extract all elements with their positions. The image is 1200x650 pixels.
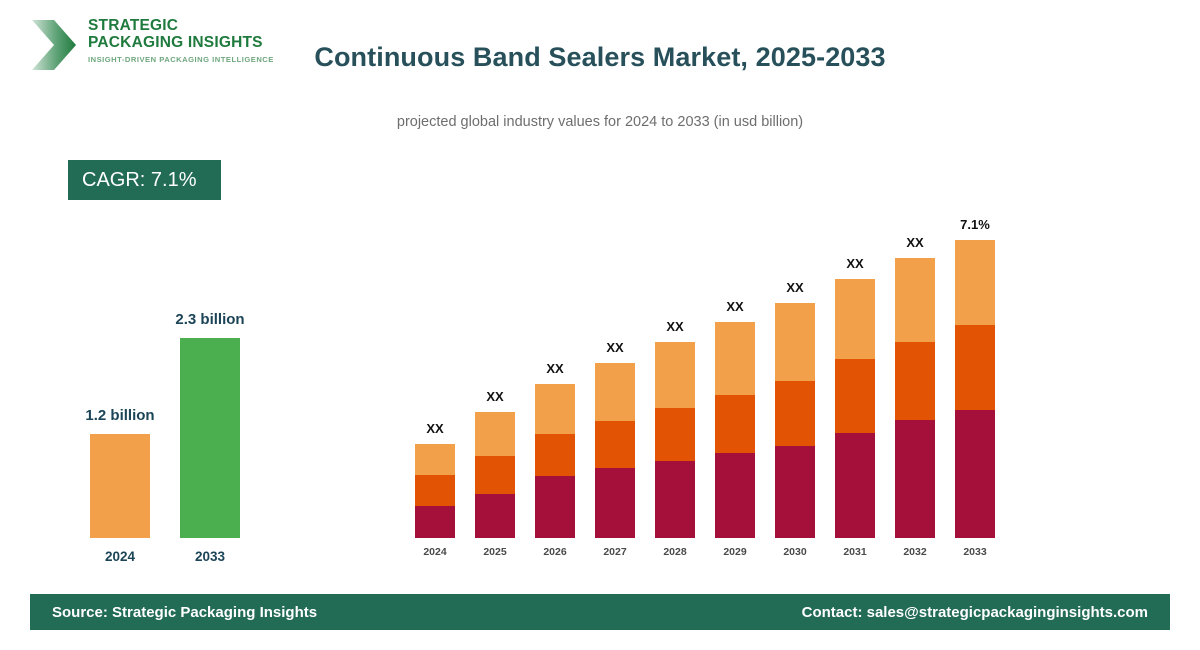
bar-segment-segment-middle xyxy=(475,456,515,494)
bar-segment-segment-top xyxy=(775,303,815,381)
bar-value-label: XX xyxy=(575,340,655,355)
bar-value-label: XX xyxy=(455,389,535,404)
bar-segment-segment-middle xyxy=(835,359,875,433)
bar-segment-segment-middle xyxy=(715,395,755,453)
footer-bar: Source: Strategic Packaging Insights Con… xyxy=(30,594,1170,630)
page-subtitle: projected global industry values for 202… xyxy=(0,114,1200,130)
infographic-page: STRATEGIC PACKAGING INSIGHTS INSIGHT-DRI… xyxy=(0,0,1200,650)
bar-segment-segment-middle xyxy=(775,381,815,446)
stacked-bar-2027 xyxy=(595,363,635,538)
bar-segment-segment-top xyxy=(535,384,575,434)
bar-segment-segment-middle xyxy=(535,434,575,476)
bar-segment-segment-bottom xyxy=(775,446,815,538)
bar-segment-segment-middle xyxy=(595,421,635,468)
stacked-bar-2024 xyxy=(415,444,455,538)
bar-segment-segment-top xyxy=(955,240,995,325)
bar-segment-segment-bottom xyxy=(535,476,575,538)
stacked-bar-2033 xyxy=(955,240,995,538)
bar-value-label: XX xyxy=(815,256,895,271)
footer-contact: Contact: sales@strategicpackaginginsight… xyxy=(802,604,1148,621)
bar-segment-segment-top xyxy=(895,258,935,342)
stacked-bar-2028 xyxy=(655,342,695,538)
bar-segment-segment-bottom xyxy=(835,433,875,538)
bar-segment-segment-bottom xyxy=(595,468,635,538)
bar-value-label: 7.1% xyxy=(935,217,1015,232)
bar-segment-segment-bottom xyxy=(655,461,695,538)
stacked-bar-2029 xyxy=(715,322,755,538)
footer-source: Source: Strategic Packaging Insights xyxy=(52,604,317,621)
bar-segment-segment-bottom xyxy=(955,410,995,538)
bar-value-label: XX xyxy=(755,280,835,295)
bar-segment-segment-bottom xyxy=(415,506,455,538)
bar-segment-segment-top xyxy=(715,322,755,395)
bar-value-label: XX xyxy=(395,421,475,436)
bar-value-label: XX xyxy=(695,299,775,314)
comparison-bar-fill xyxy=(90,434,150,538)
bar-segment-segment-middle xyxy=(955,325,995,410)
bar-value-label: XX xyxy=(635,319,715,334)
bar-value-label: XX xyxy=(875,235,955,250)
x-axis-tick-2033: 2033 xyxy=(935,546,1015,558)
bar-segment-segment-top xyxy=(835,279,875,359)
bar-segment-segment-bottom xyxy=(475,494,515,538)
stacked-bar-2032 xyxy=(895,258,935,538)
bar-segment-segment-middle xyxy=(655,408,695,461)
bar-segment-segment-middle xyxy=(895,342,935,420)
comparison-year-label: 2024 xyxy=(70,549,170,564)
bar-value-label: XX xyxy=(515,361,595,376)
stacked-bar-2025 xyxy=(475,412,515,538)
bar-segment-segment-bottom xyxy=(895,420,935,538)
bar-segment-segment-top xyxy=(475,412,515,456)
stacked-bar-chart: XX2024XX2025XX2026XX2027XX2028XX2029XX20… xyxy=(405,195,1005,560)
bar-segment-segment-top xyxy=(415,444,455,475)
bar-segment-segment-top xyxy=(595,363,635,421)
stacked-bar-2030 xyxy=(775,303,815,538)
comparison-bar xyxy=(90,434,150,538)
comparison-year-label: 2033 xyxy=(160,549,260,564)
cagr-badge: CAGR: 7.1% xyxy=(68,160,221,200)
bar-segment-segment-bottom xyxy=(715,453,755,538)
comparison-chart: 1.2 billion 2024 2.3 billion 2033 xyxy=(40,300,290,570)
stacked-bar-2031 xyxy=(835,279,875,538)
comparison-bar-fill xyxy=(180,338,240,538)
bar-segment-segment-top xyxy=(655,342,695,408)
brand-name-line-1: STRATEGIC xyxy=(88,18,274,35)
comparison-value-label: 1.2 billion xyxy=(50,407,190,424)
stacked-bar-2026 xyxy=(535,384,575,538)
bar-segment-segment-middle xyxy=(415,475,455,506)
page-title: Continuous Band Sealers Market, 2025-203… xyxy=(0,42,1200,73)
comparison-bar xyxy=(180,338,240,538)
comparison-value-label: 2.3 billion xyxy=(140,311,280,328)
